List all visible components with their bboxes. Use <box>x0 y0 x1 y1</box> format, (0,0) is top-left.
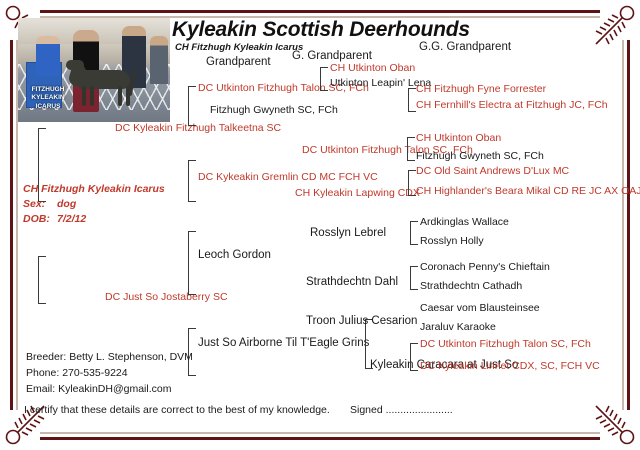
breeder-phone: Phone: 270-535-9224 <box>26 366 193 382</box>
header-grandparent: Grandparent <box>206 56 271 68</box>
frame-left-line <box>10 40 13 410</box>
bracket-d2d-children <box>410 343 418 371</box>
bracket-s2s-children <box>410 221 418 245</box>
bracket-sire-sire-children <box>320 67 328 91</box>
pedigree-node-sd-sire: CH Fitzhugh Fyne Forrester <box>416 84 546 95</box>
pedigree-node-d2-sire: Troon Julius Cesarion <box>306 315 417 327</box>
pedigree-node-d2sd: Jaraluv Karaoke <box>420 322 496 333</box>
bracket-sire-children <box>188 86 196 126</box>
frame-right-line-inner <box>622 40 624 410</box>
subject-info: CH Fitzhugh Kyleakin Icarus Sex:dog DOB:… <box>23 182 165 228</box>
frame-bottom-line-inner <box>40 432 600 434</box>
pedigree-node-dam: DC Kykeakin Gremlin CD MC FCH VC <box>198 172 378 183</box>
pedigree-node-sire2: Leoch Gordon <box>198 249 271 261</box>
pedigree-node-sire: DC Kyleakin Fitzhugh Talkeetna SC <box>115 123 281 134</box>
pedigree-node-s2ds: Coronach Penny's Chieftain <box>420 262 550 273</box>
pedigree-node-dd-sire: DC Old Saint Andrews D'Lux MC <box>416 166 569 177</box>
header-g-grandparent: G. Grandparent <box>292 50 372 62</box>
pedigree-node-s2-dam: Strathdechtn Dahl <box>306 276 398 288</box>
pedigree-node-s2sd: Rosslyn Holly <box>420 236 484 247</box>
subject-dob-value: 7/2/12 <box>57 213 86 225</box>
certification-text: I certify that these details are correct… <box>24 404 330 416</box>
pedigree-node-dd-dam: CH Highlander's Beara Mikal CD RE JC AX … <box>416 186 640 197</box>
pedigree-node-second-parent: DC Just So Jostaberry SC <box>105 292 228 303</box>
bracket-dam <box>188 160 196 202</box>
frame-bottom-line <box>40 437 600 440</box>
breeder-email: Email: KyleakinDH@gmail.com <box>26 382 193 398</box>
pedigree-node-d2ds: DC Utkinton Fitzhugh Talon SC, FCh <box>420 339 591 350</box>
breeder-name: Breeder: Betty L. Stephenson, DVM <box>26 350 193 366</box>
subject-dob-label: DOB: <box>23 212 57 227</box>
frame-right-line <box>627 40 630 410</box>
bracket-second-parent <box>38 256 46 304</box>
frame-top-line <box>40 10 600 13</box>
signature-line: Signed ....................... <box>350 404 453 416</box>
subject-sex-value: dog <box>57 198 76 210</box>
bracket-s2d-children <box>410 266 418 290</box>
pedigree-node-dam2: Just So Airborne Til T'Eagle Grins <box>198 337 369 349</box>
pedigree-certificate: FITZHUGH KYLEAKIN ICARUS Kyleakin Scotti… <box>0 0 640 450</box>
page-title: Kyleakin Scottish Deerhounds <box>172 18 470 42</box>
header-subject: CH Fitzhugh Kyleakin Icarus <box>175 43 303 53</box>
photo-caption: FITZHUGH KYLEAKIN ICARUS <box>24 86 72 112</box>
pedigree-node-dam-dam: CH Kyleakin Lapwing CDX <box>295 188 420 199</box>
pedigree-node-d2dd: DC Kyleakin Linnet CDX, SC, FCH VC <box>420 361 600 372</box>
bracket-sire2-children <box>188 231 196 295</box>
pedigree-node-sd-dam: CH Fernhill's Electra at Fitzhugh JC, FC… <box>416 100 608 111</box>
subject-sex-label: Sex: <box>23 197 57 212</box>
pedigree-node-d2ss: Caesar vom Blausteinsee <box>420 303 540 314</box>
pedigree-node-ss-sire: CH Utkinton Oban <box>330 63 415 74</box>
subject-name: CH Fitzhugh Kyleakin Icarus <box>23 182 165 197</box>
pedigree-node-s2-sire: Rosslyn Lebrel <box>310 227 386 239</box>
bracket-dam-dam-children <box>408 170 416 196</box>
pedigree-node-s2dd: Strathdechtn Cathadh <box>420 281 522 292</box>
bracket-sire-dam-children <box>408 88 416 112</box>
dog-show-photo: FITZHUGH KYLEAKIN ICARUS <box>18 18 170 122</box>
pedigree-node-ds-dam: Fitzhugh Gwyneth SC, FCh <box>416 151 544 162</box>
pedigree-node-ds-sire: CH Utkinton Oban <box>416 133 501 144</box>
bracket-dam-sire-children <box>407 137 415 161</box>
breeder-info: Breeder: Betty L. Stephenson, DVM Phone:… <box>26 350 193 397</box>
pedigree-node-s2ss: Ardkinglas Wallace <box>420 217 509 228</box>
pedigree-node-sire-dam: Fitzhugh Gwyneth SC, FCh <box>210 105 338 116</box>
header-gg-grandparent: G.G. Grandparent <box>419 41 511 53</box>
